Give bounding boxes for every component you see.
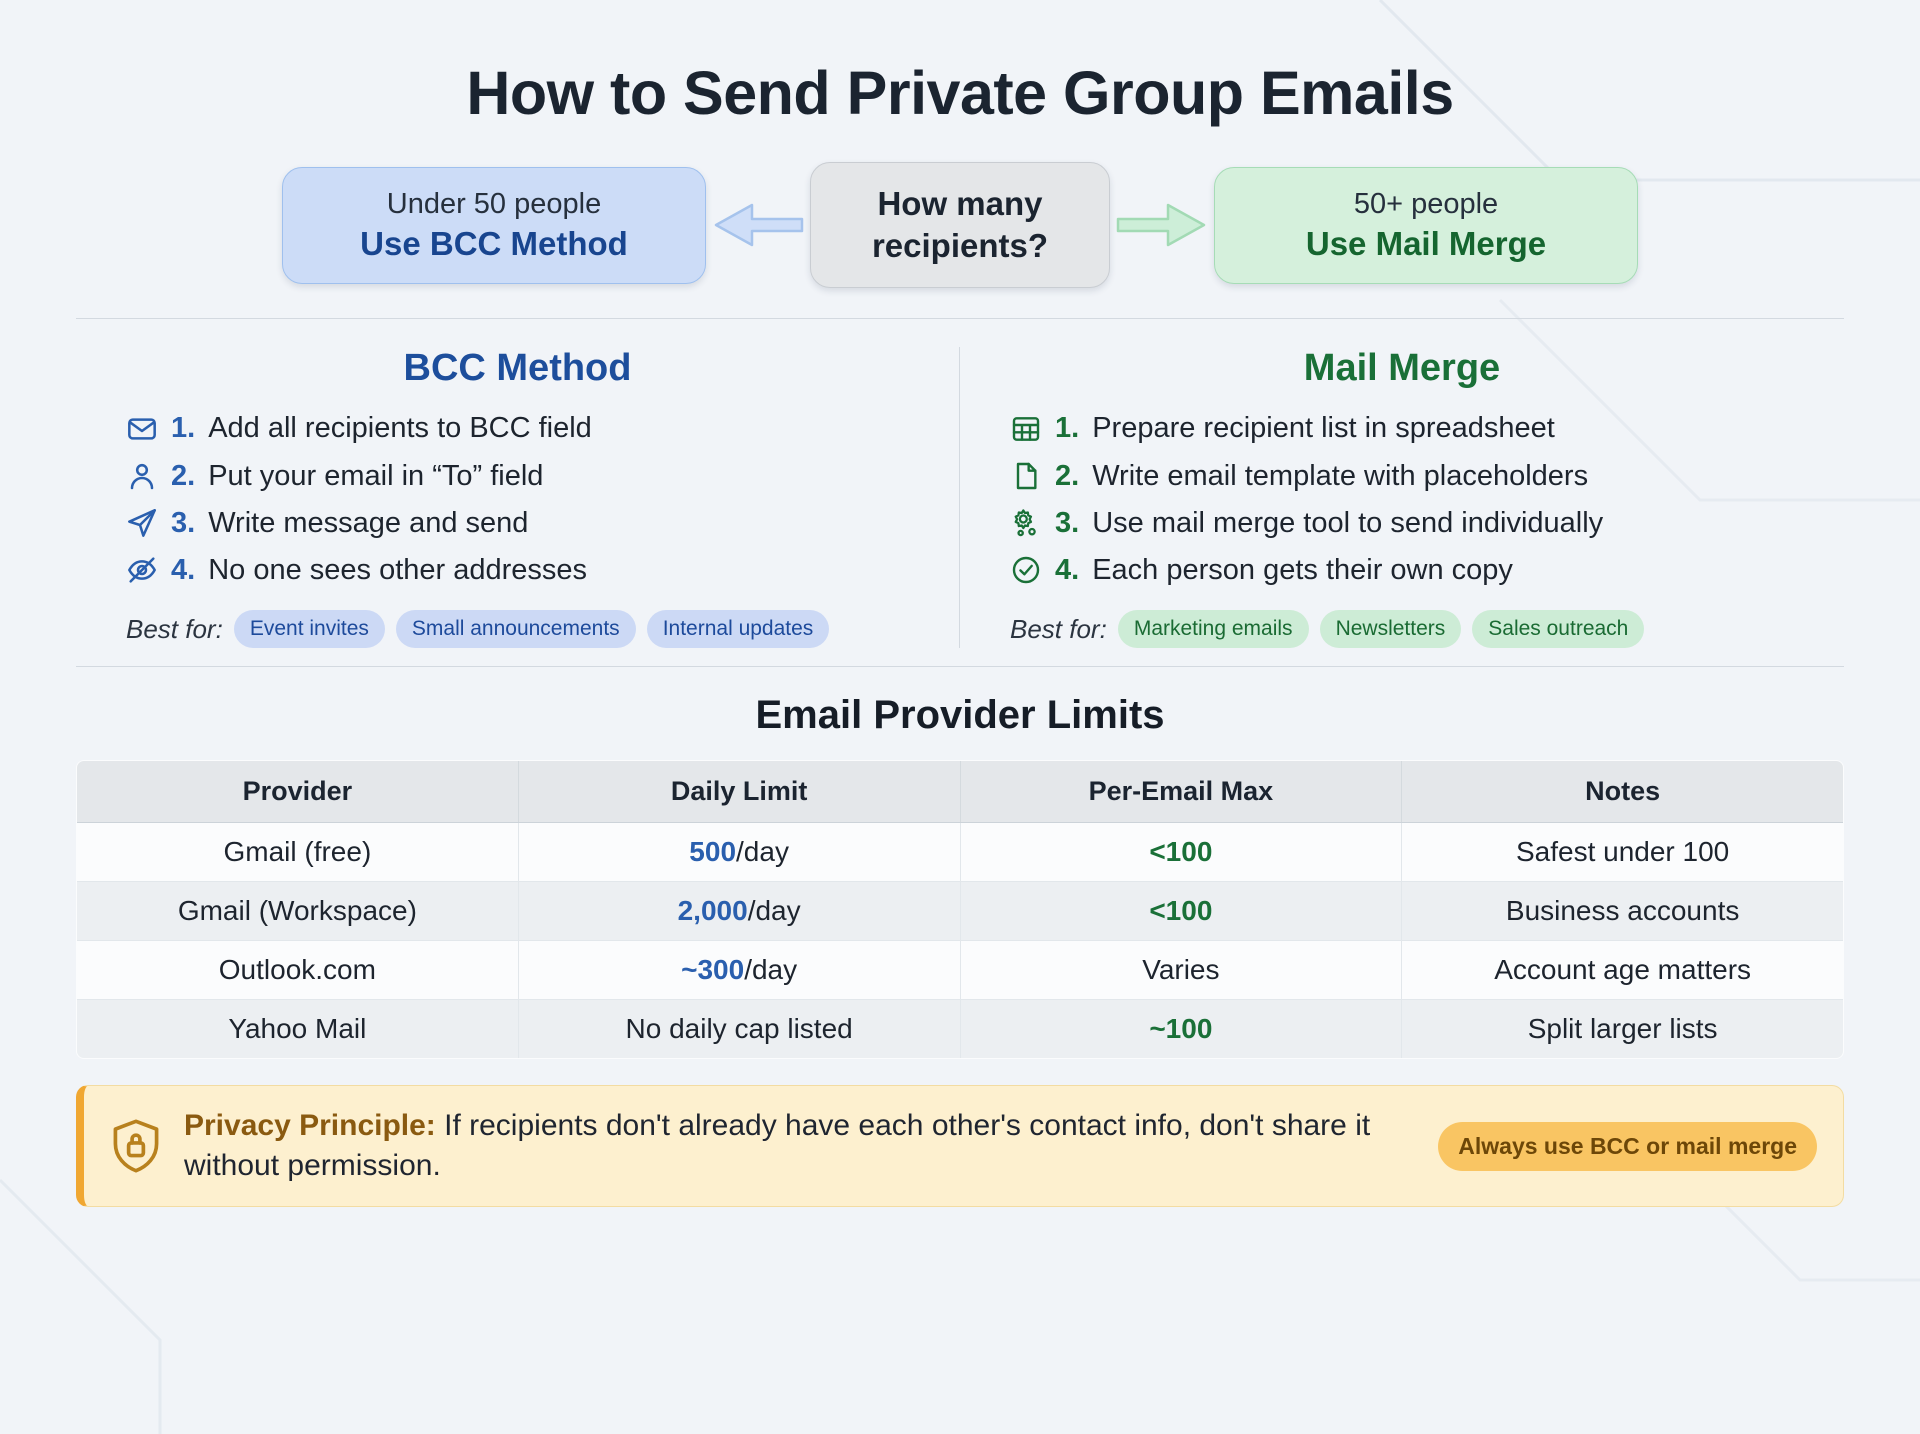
cell-per-email: ~100 [960, 1000, 1402, 1059]
decision-box-mailmerge: 50+ people Use Mail Merge [1214, 167, 1638, 284]
best-for-label: Best for: [1010, 614, 1107, 645]
tag-chip: Newsletters [1320, 610, 1462, 648]
step-item: 2. Write email template with placeholder… [1010, 458, 1822, 494]
column-header-notes: Notes [1402, 761, 1844, 823]
check-circle-icon [1010, 554, 1042, 586]
cell-daily-limit: ~300/day [518, 941, 960, 1000]
step-item: 4. Each person gets their own copy [1010, 552, 1822, 588]
cell-provider: Outlook.com [77, 941, 519, 1000]
cell-notes: Split larger lists [1402, 1000, 1844, 1059]
method-steps-bcc: 1. Add all recipients to BCC field 2. Pu… [98, 410, 937, 588]
daily-limit-value: ~300 [681, 954, 744, 985]
column-header-provider: Provider [77, 761, 519, 823]
cell-daily-limit: 2,000/day [518, 882, 960, 941]
cell-per-email: <100 [960, 823, 1402, 882]
step-text: Write message and send [208, 505, 528, 541]
decision-box-bcc-action: Use BCC Method [311, 225, 677, 263]
per-email-value: ~100 [1149, 1013, 1212, 1044]
daily-limit-suffix: /day [744, 954, 797, 985]
envelope-icon [126, 413, 158, 445]
decision-question-line2: recipients? [839, 225, 1081, 267]
best-for-label: Best for: [126, 614, 223, 645]
step-text: Use mail merge tool to send individually [1092, 505, 1603, 541]
daily-limit-value: No daily cap listed [626, 1013, 853, 1044]
per-email-value: Varies [1142, 954, 1219, 985]
daily-limit-suffix: /day [748, 895, 801, 926]
method-heading-mailmerge: Mail Merge [982, 347, 1822, 390]
spreadsheet-icon [1010, 413, 1042, 445]
decision-flow: Under 50 people Use BCC Method How many … [76, 162, 1844, 288]
cell-per-email: <100 [960, 882, 1402, 941]
daily-limit-value: 2,000 [678, 895, 748, 926]
shield-lock-icon [110, 1117, 162, 1175]
step-item: 3. Use mail merge tool to send individua… [1010, 505, 1822, 541]
step-item: 3. Write message and send [126, 505, 937, 541]
table-row: Outlook.com ~300/day Varies Account age … [77, 941, 1844, 1000]
arrow-left-icon [706, 195, 810, 255]
step-item: 2. Put your email in “To” field [126, 458, 937, 494]
cell-daily-limit: 500/day [518, 823, 960, 882]
best-for-row-mailmerge: Best for: Marketing emails Newsletters S… [982, 610, 1822, 648]
step-number: 3. [171, 505, 195, 541]
page-title: How to Send Private Group Emails [76, 58, 1844, 128]
eye-off-icon [126, 554, 158, 586]
step-text: No one sees other addresses [208, 552, 587, 588]
status-badge: Always use BCC or mail merge [1438, 1122, 1817, 1171]
methods-section: BCC Method 1. Add all recipients to BCC … [76, 319, 1844, 666]
send-icon [126, 507, 158, 539]
cell-per-email: Varies [960, 941, 1402, 1000]
daily-limit-suffix: /day [736, 836, 789, 867]
tag-chip: Internal updates [647, 610, 830, 648]
person-icon [126, 460, 158, 492]
step-text: Add all recipients to BCC field [208, 410, 592, 446]
best-for-row-bcc: Best for: Event invites Small announceme… [98, 610, 937, 648]
tag-chip: Sales outreach [1472, 610, 1644, 648]
cell-daily-limit: No daily cap listed [518, 1000, 960, 1059]
cell-provider: Gmail (Workspace) [77, 882, 519, 941]
method-steps-mailmerge: 1. Prepare recipient list in spreadsheet… [982, 410, 1822, 588]
column-header-daily-limit: Daily Limit [518, 761, 960, 823]
per-email-value: <100 [1149, 895, 1212, 926]
decision-box-mailmerge-condition: 50+ people [1243, 188, 1609, 221]
table-row: Gmail (free) 500/day <100 Safest under 1… [77, 823, 1844, 882]
section-title: Email Provider Limits [76, 693, 1844, 738]
decision-box-question: How many recipients? [810, 162, 1110, 288]
step-item: 1. Prepare recipient list in spreadsheet [1010, 410, 1822, 446]
table-row: Yahoo Mail No daily cap listed ~100 Spli… [77, 1000, 1844, 1059]
arrow-right-icon [1110, 195, 1214, 255]
tag-chip: Marketing emails [1118, 610, 1309, 648]
provider-limits-table: Provider Daily Limit Per-Email Max Notes… [76, 760, 1844, 1059]
tag-chip: Small announcements [396, 610, 636, 648]
decision-question-line1: How many [839, 183, 1081, 225]
step-text: Put your email in “To” field [208, 458, 543, 494]
method-column-mailmerge: Mail Merge 1. Prepare recipient list in … [960, 347, 1844, 648]
step-number: 1. [1055, 410, 1079, 446]
method-heading-bcc: BCC Method [98, 347, 937, 390]
per-email-value: <100 [1149, 836, 1212, 867]
provider-limits-section: Email Provider Limits Provider Daily Lim… [76, 667, 1844, 1059]
step-text: Each person gets their own copy [1092, 552, 1513, 588]
step-item: 4. No one sees other addresses [126, 552, 937, 588]
cell-notes: Account age matters [1402, 941, 1844, 1000]
infographic-page: How to Send Private Group Emails Under 5… [0, 0, 1920, 1434]
decision-box-bcc: Under 50 people Use BCC Method [282, 167, 706, 284]
column-header-per-email: Per-Email Max [960, 761, 1402, 823]
step-text: Prepare recipient list in spreadsheet [1092, 410, 1555, 446]
step-item: 1. Add all recipients to BCC field [126, 410, 937, 446]
method-column-bcc: BCC Method 1. Add all recipients to BCC … [76, 347, 960, 648]
table-row: Gmail (Workspace) 2,000/day <100 Busines… [77, 882, 1844, 941]
privacy-principle-text: Privacy Principle: If recipients don't a… [184, 1106, 1416, 1186]
step-number: 4. [171, 552, 195, 588]
privacy-principle-banner: Privacy Principle: If recipients don't a… [76, 1085, 1844, 1207]
daily-limit-value: 500 [689, 836, 736, 867]
step-number: 4. [1055, 552, 1079, 588]
cell-notes: Business accounts [1402, 882, 1844, 941]
cell-provider: Yahoo Mail [77, 1000, 519, 1059]
document-icon [1010, 460, 1042, 492]
step-text: Write email template with placeholders [1092, 458, 1588, 494]
decision-box-mailmerge-action: Use Mail Merge [1243, 225, 1609, 263]
gear-icon [1010, 507, 1042, 539]
table-header-row: Provider Daily Limit Per-Email Max Notes [77, 761, 1844, 823]
cell-provider: Gmail (free) [77, 823, 519, 882]
decision-box-bcc-condition: Under 50 people [311, 188, 677, 221]
step-number: 2. [1055, 458, 1079, 494]
tag-chip: Event invites [234, 610, 385, 648]
privacy-principle-label: Privacy Principle: [184, 1109, 436, 1142]
step-number: 1. [171, 410, 195, 446]
cell-notes: Safest under 100 [1402, 823, 1844, 882]
step-number: 3. [1055, 505, 1079, 541]
step-number: 2. [171, 458, 195, 494]
